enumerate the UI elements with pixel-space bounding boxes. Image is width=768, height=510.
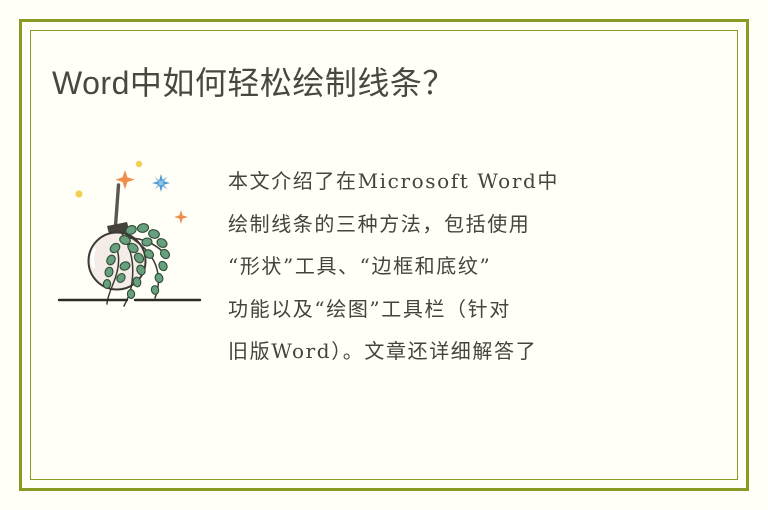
hanging-plant-illustration (55, 148, 215, 316)
yellow-dot-top-icon (136, 161, 142, 167)
orange-cross-right-icon (174, 210, 188, 224)
summary-line: 本文介绍了在Microsoft Word中 (228, 160, 658, 203)
blue-snowflake-icon (152, 174, 170, 192)
page-title: Word中如何轻松绘制线条？ (52, 61, 455, 105)
summary-line: 绘制线条的三种方法，包括使用 (228, 203, 658, 246)
hanging-plant-terrarium-icon (55, 148, 215, 316)
yellow-dot-left-icon (75, 190, 82, 197)
summary-line: 旧版Word）。文章还详细解答了 (228, 330, 658, 373)
hanging-cord (116, 185, 119, 226)
article-preview-card: Word中如何轻松绘制线条？ (0, 0, 768, 510)
summary-line: “形状”工具、“边框和底纹” (228, 245, 658, 288)
article-summary: 本文介绍了在Microsoft Word中 绘制线条的三种方法，包括使用 “形状… (228, 160, 658, 373)
summary-line: 功能以及“绘图”工具栏（针对 (228, 288, 658, 331)
